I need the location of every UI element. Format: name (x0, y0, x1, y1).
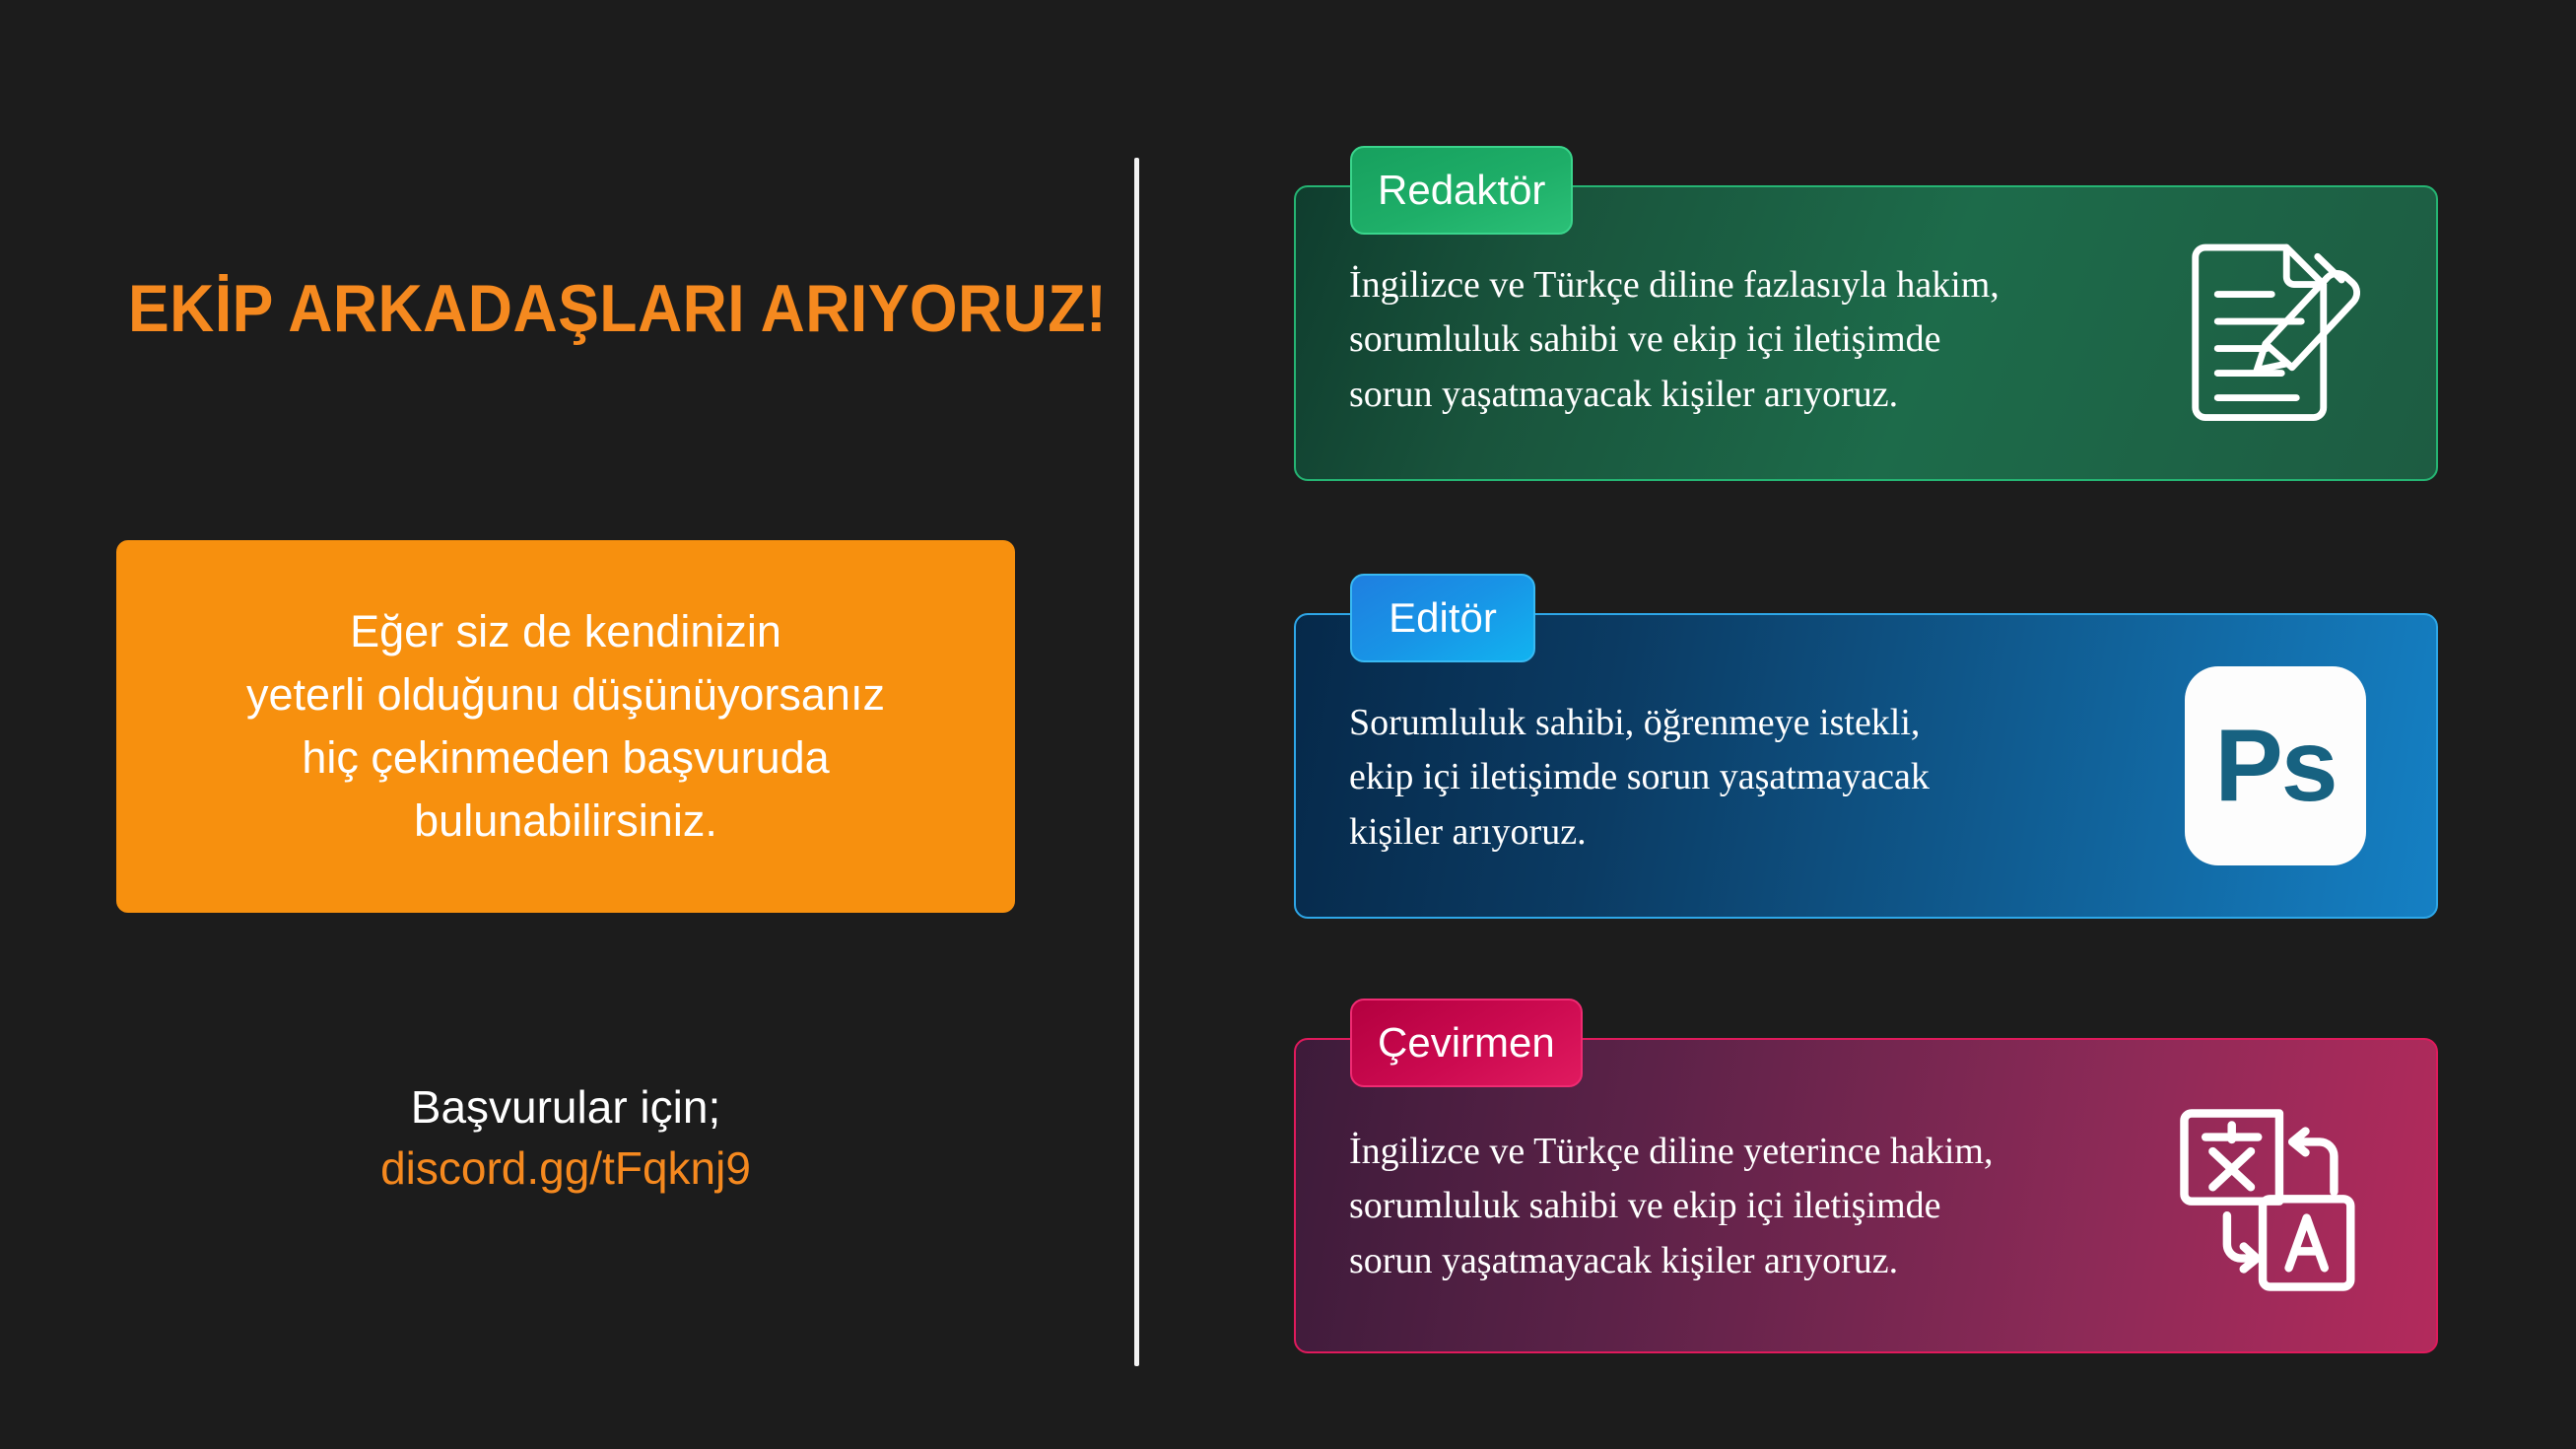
callout-box: Eğer siz de kendinizin yeterli olduğunu … (116, 540, 1015, 913)
left-column: EKİP ARKADAŞLARI ARIYORUZ! Eğer siz de k… (0, 0, 1135, 1449)
role-tab-label: Editör (1389, 594, 1497, 642)
role-tab-label: Redaktör (1378, 167, 1545, 214)
callout-text: Eğer siz de kendinizin yeterli olduğunu … (223, 600, 909, 853)
translate-icon (2152, 1081, 2389, 1318)
role-tab-editor[interactable]: Editör (1350, 574, 1535, 662)
role-tab-cevirmen[interactable]: Çevirmen (1350, 999, 1583, 1087)
apply-block: Başvurular için; discord.gg/tFqknj9 (116, 1079, 1015, 1198)
apply-label: Başvurular için; (116, 1079, 1015, 1137)
role-description: İngilizce ve Türkçe diline fazlasıyla ha… (1349, 258, 2131, 422)
role-description: Sorumluluk sahibi, öğrenmeye istekli, ek… (1349, 696, 2131, 860)
role-description: İngilizce ve Türkçe diline yeterince hak… (1349, 1125, 2131, 1288)
role-tab-label: Çevirmen (1378, 1019, 1555, 1067)
role-cards: İngilizce ve Türkçe diline fazlasıyla ha… (1294, 0, 2452, 1449)
photoshop-icon-label: Ps (2185, 666, 2366, 865)
photoshop-icon: Ps (2162, 653, 2389, 879)
role-tab-redaktor[interactable]: Redaktör (1350, 146, 1573, 235)
recruitment-poster: EKİP ARKADAŞLARI ARIYORUZ! Eğer siz de k… (0, 0, 2576, 1449)
discord-invite-link[interactable]: discord.gg/tFqknj9 (116, 1140, 1015, 1198)
document-pencil-icon (2162, 213, 2389, 449)
page-title: EKİP ARKADAŞLARI ARIYORUZ! (128, 274, 972, 344)
vertical-divider (1134, 158, 1139, 1366)
